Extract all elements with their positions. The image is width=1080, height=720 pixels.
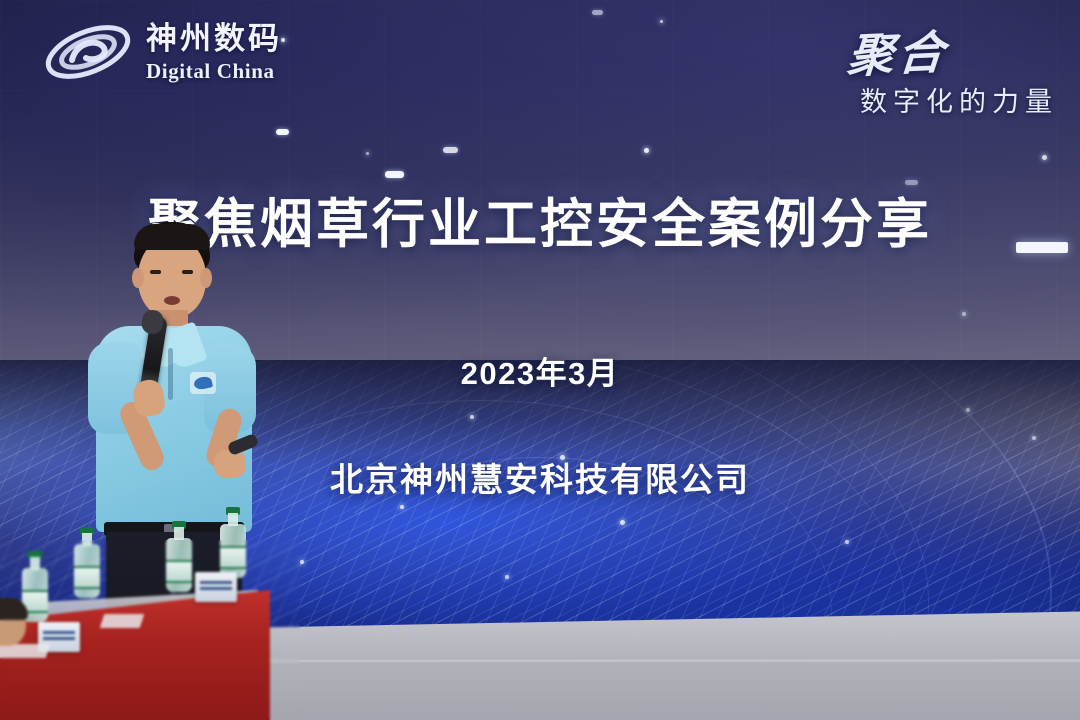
papers — [0, 644, 50, 658]
spiral-swoosh-icon — [42, 16, 134, 88]
bottle-label — [166, 560, 192, 583]
bottle-neck — [228, 513, 238, 526]
bottle-neck — [174, 527, 184, 540]
conference-stage-photo: 神州数码 Digital China 聚合 数字化的力量 聚焦烟草行业工控安全案… — [0, 0, 1080, 720]
speaker-mouth — [164, 296, 180, 305]
slogan-calligraphy: 聚合 — [845, 16, 951, 86]
event-slogan: 聚合 数字化的力量 — [848, 18, 1058, 119]
bottle-label — [220, 546, 246, 569]
slogan-subtitle: 数字化的力量 — [848, 80, 1058, 119]
brand-logo: 神州数码 Digital China — [42, 16, 282, 88]
slide-accent-bar — [1016, 242, 1068, 253]
water-bottle — [220, 524, 246, 578]
speaker-eye-left — [150, 270, 161, 274]
speaker-placket — [168, 348, 173, 400]
speaker-hand-right — [214, 450, 246, 478]
chest-logo-badge-icon — [190, 372, 216, 394]
name-card — [195, 572, 237, 602]
brand-text: 神州数码 Digital China — [146, 23, 282, 82]
speaker-eye-right — [182, 270, 193, 274]
papers — [100, 614, 145, 628]
speaker-ear-right — [200, 268, 212, 288]
brand-name-en: Digital China — [146, 61, 282, 82]
water-bottle — [166, 538, 192, 592]
water-bottle — [74, 544, 100, 598]
speaker-fringe — [134, 224, 210, 250]
speaker-ear-left — [132, 268, 144, 288]
brand-name-cn: 神州数码 — [146, 23, 282, 54]
bottle-neck — [30, 557, 40, 570]
bottle-neck — [82, 533, 92, 546]
bottle-label — [74, 566, 100, 589]
judges-table — [0, 550, 280, 720]
